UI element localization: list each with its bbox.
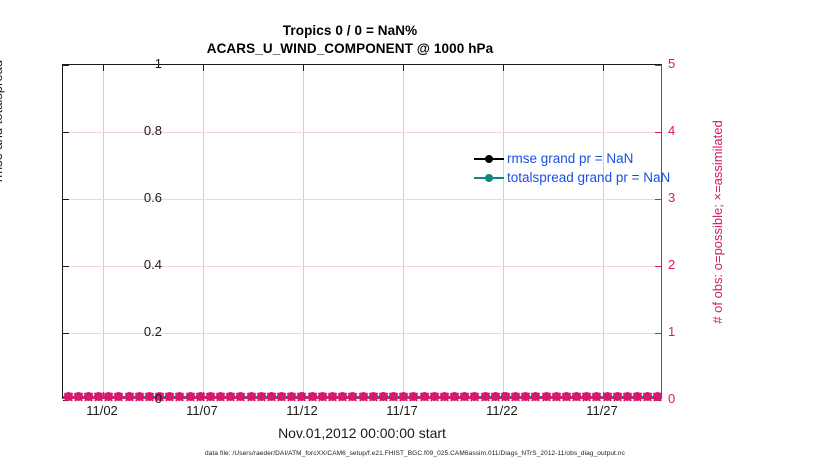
plot-area: rmse grand pr = NaN totalspread grand pr… — [62, 64, 662, 399]
left-tick-label: 0.2 — [144, 325, 162, 338]
right-tick-label: 2 — [668, 258, 675, 271]
chart-title-block: Tropics 0 / 0 = NaN% ACARS_U_WIND_COMPON… — [0, 22, 700, 58]
left-tick-label: 0.8 — [144, 124, 162, 137]
series-line-totalspread — [63, 396, 661, 398]
tick-left — [63, 65, 69, 66]
tick-left — [63, 333, 69, 334]
left-tick-label: 0.6 — [144, 191, 162, 204]
tick-top — [403, 65, 404, 71]
tick-top — [503, 65, 504, 71]
chart-subtitle: ACARS_U_WIND_COMPONENT @ 1000 hPa — [0, 40, 700, 58]
legend-label-totalspread: totalspread grand pr = NaN — [507, 170, 670, 185]
gridline-vertical — [503, 65, 504, 398]
tick-top — [303, 65, 304, 71]
tick-right — [655, 333, 661, 334]
left-tick-label: 0.4 — [144, 258, 162, 271]
tick-top — [103, 65, 104, 71]
x-tick-label: 11/27 — [572, 403, 632, 418]
x-tick-label: 11/07 — [172, 403, 232, 418]
gridline-vertical — [403, 65, 404, 398]
gridline-vertical — [103, 65, 104, 398]
left-axis-title: rmse and totalspread — [0, 11, 5, 231]
tick-right — [655, 266, 661, 267]
x-axis-title: Nov.01,2012 00:00:00 start — [62, 425, 662, 441]
chart-title: Tropics 0 / 0 = NaN% — [0, 22, 700, 40]
gridline-vertical — [303, 65, 304, 398]
legend-item-totalspread[interactable]: totalspread grand pr = NaN — [474, 168, 724, 187]
legend-label-rmse: rmse grand pr = NaN — [507, 151, 633, 166]
tick-left — [63, 266, 69, 267]
x-tick-label: 11/22 — [472, 403, 532, 418]
x-tick-label: 11/12 — [272, 403, 332, 418]
left-tick-label: 1 — [155, 57, 162, 70]
tick-top — [603, 65, 604, 71]
legend-item-rmse[interactable]: rmse grand pr = NaN — [474, 149, 724, 168]
tick-right — [655, 132, 661, 133]
tick-left — [63, 132, 69, 133]
gridline-vertical — [203, 65, 204, 398]
tick-left — [63, 400, 69, 401]
data-file-footnote: data file: /Users/raeder/DAI/ATM_forcXX/… — [0, 450, 830, 457]
tick-left — [63, 199, 69, 200]
right-tick-label: 3 — [668, 191, 675, 204]
right-tick-label: 5 — [668, 57, 675, 70]
right-tick-label: 4 — [668, 124, 675, 137]
tick-top — [203, 65, 204, 71]
x-tick-label: 11/02 — [72, 403, 132, 418]
right-tick-label: 1 — [668, 325, 675, 338]
right-axis-title: # of obs: o=possible; ×=assimilated — [710, 52, 725, 392]
legend-marker-rmse-icon — [474, 152, 504, 166]
left-tick-label: 0 — [155, 392, 162, 405]
chart-legend: rmse grand pr = NaN totalspread grand pr… — [474, 149, 724, 187]
tick-right — [655, 199, 661, 200]
tick-right — [655, 65, 661, 66]
right-tick-label: 0 — [668, 392, 675, 405]
legend-marker-totalspread-icon — [474, 171, 504, 185]
gridline-vertical — [603, 65, 604, 398]
tick-right — [655, 400, 661, 401]
x-tick-label: 11/17 — [372, 403, 432, 418]
